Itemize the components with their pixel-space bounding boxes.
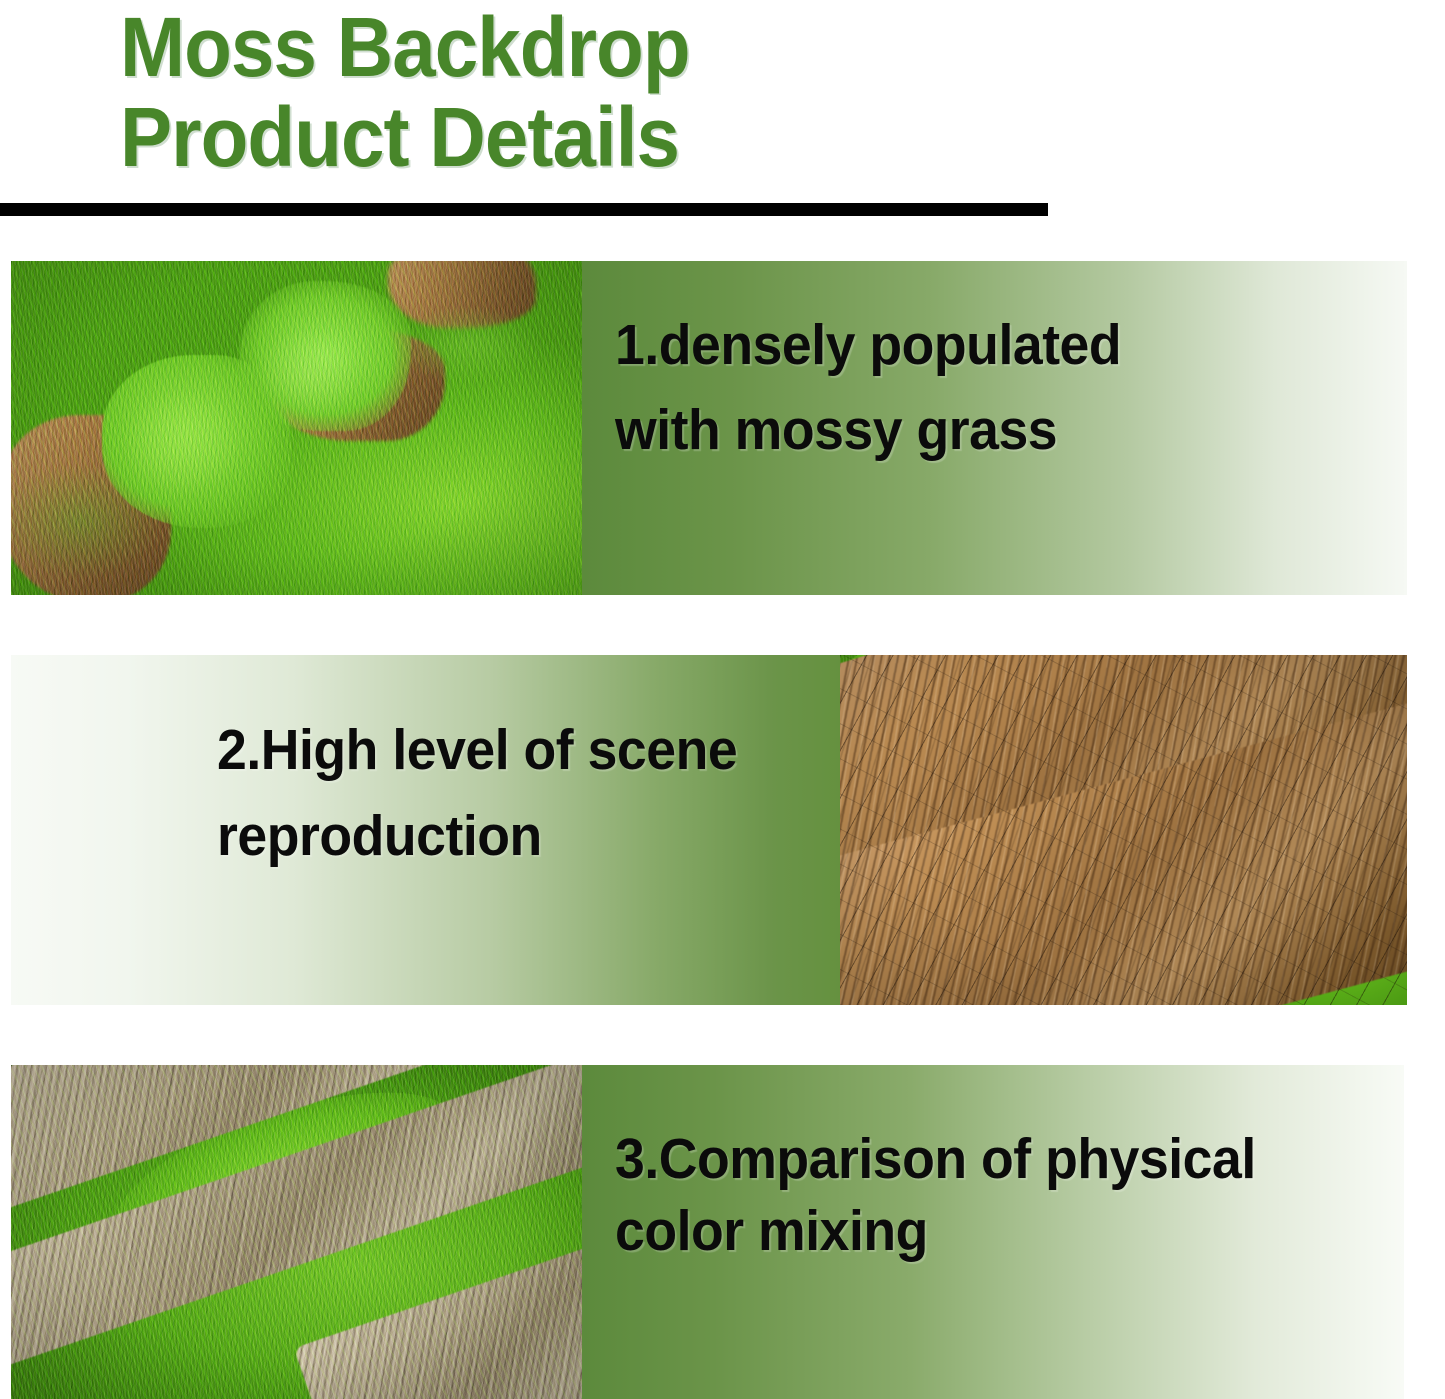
feature-text-2-line-2: reproduction (217, 793, 737, 879)
feature-text-3-line-1: 3.Comparison of physical (615, 1123, 1256, 1195)
feature-panel-3: 3.Comparison of physical color mixing (582, 1065, 1404, 1399)
feature-row-1: 1.densely populated with mossy grass (11, 261, 1407, 595)
feature-image-2 (840, 655, 1407, 1005)
feature-text-1-line-1: 1.densely populated (615, 303, 1121, 388)
feature-image-1 (11, 261, 582, 595)
feature-text-2: 2.High level of scene reproduction (217, 707, 737, 879)
feature-panel-1: 1.densely populated with mossy grass (582, 261, 1407, 595)
feature-text-3-line-2: color mixing (615, 1195, 1256, 1267)
vignette-layer (11, 261, 582, 595)
feature-image-3 (11, 1065, 582, 1399)
feature-row-3: 3.Comparison of physical color mixing (11, 1065, 1404, 1399)
page-title-line-2: Product Details (120, 92, 1050, 182)
page-title: Moss Backdrop Product Details (120, 2, 1120, 182)
feature-text-3: 3.Comparison of physical color mixing (615, 1123, 1256, 1267)
feature-text-1-line-2: with mossy grass (615, 388, 1121, 473)
title-divider-rule (0, 203, 1048, 216)
vignette-layer (11, 1065, 582, 1399)
page-title-line-1: Moss Backdrop (120, 2, 1050, 92)
feature-text-2-line-1: 2.High level of scene (217, 707, 737, 793)
vignette-layer (840, 655, 1407, 1005)
feature-row-2: 2.High level of scene reproduction (11, 655, 1407, 1005)
feature-text-1: 1.densely populated with mossy grass (615, 303, 1121, 473)
feature-panel-2: 2.High level of scene reproduction (11, 655, 840, 1005)
